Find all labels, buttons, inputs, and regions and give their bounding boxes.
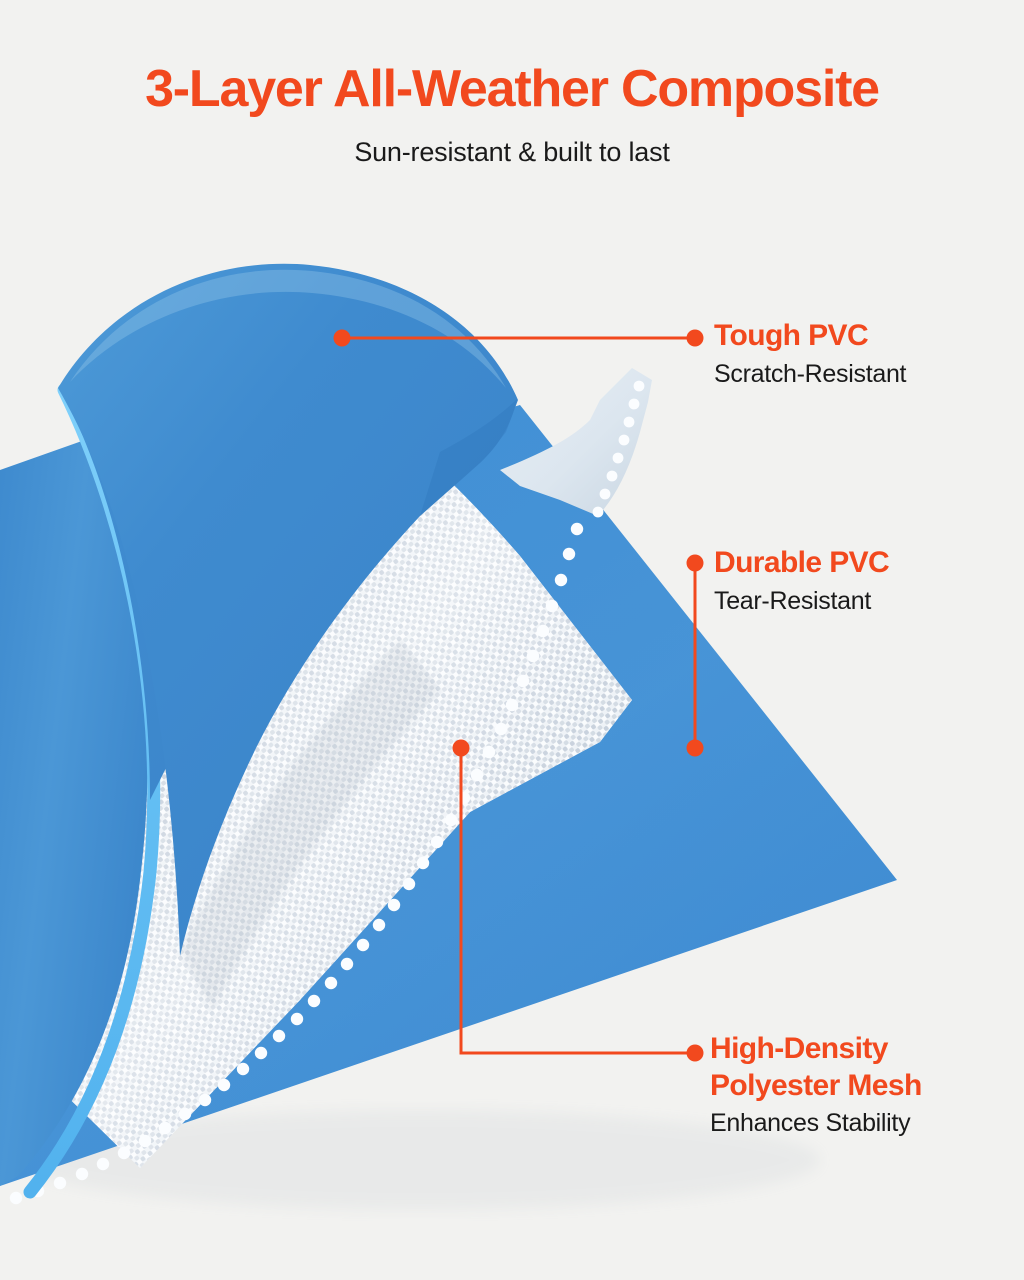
callout-title-durable-pvc: Durable PVC <box>714 545 889 582</box>
callout-subtitle-tough-pvc: Scratch-Resistant <box>714 355 906 389</box>
callout-polyester-mesh: High-Density Polyester Mesh Enhances Sta… <box>710 1031 1010 1138</box>
infographic-page: 3-Layer All-Weather Composite Sun-resist… <box>0 0 1024 1280</box>
callout-subtitle-polyester-mesh: Enhances Stability <box>710 1104 1010 1138</box>
callout-durable-pvc: Durable PVC Tear-Resistant <box>714 545 889 616</box>
callout-title-tough-pvc: Tough PVC <box>714 318 906 355</box>
page-subtitle: Sun-resistant & built to last <box>0 117 1024 168</box>
callout-title-polyester-mesh: High-Density Polyester Mesh <box>710 1031 1010 1104</box>
header-block: 3-Layer All-Weather Composite Sun-resist… <box>0 0 1024 168</box>
callout-tough-pvc: Tough PVC Scratch-Resistant <box>714 318 906 389</box>
page-title: 3-Layer All-Weather Composite <box>0 0 1024 117</box>
callout-subtitle-durable-pvc: Tear-Resistant <box>714 582 889 616</box>
